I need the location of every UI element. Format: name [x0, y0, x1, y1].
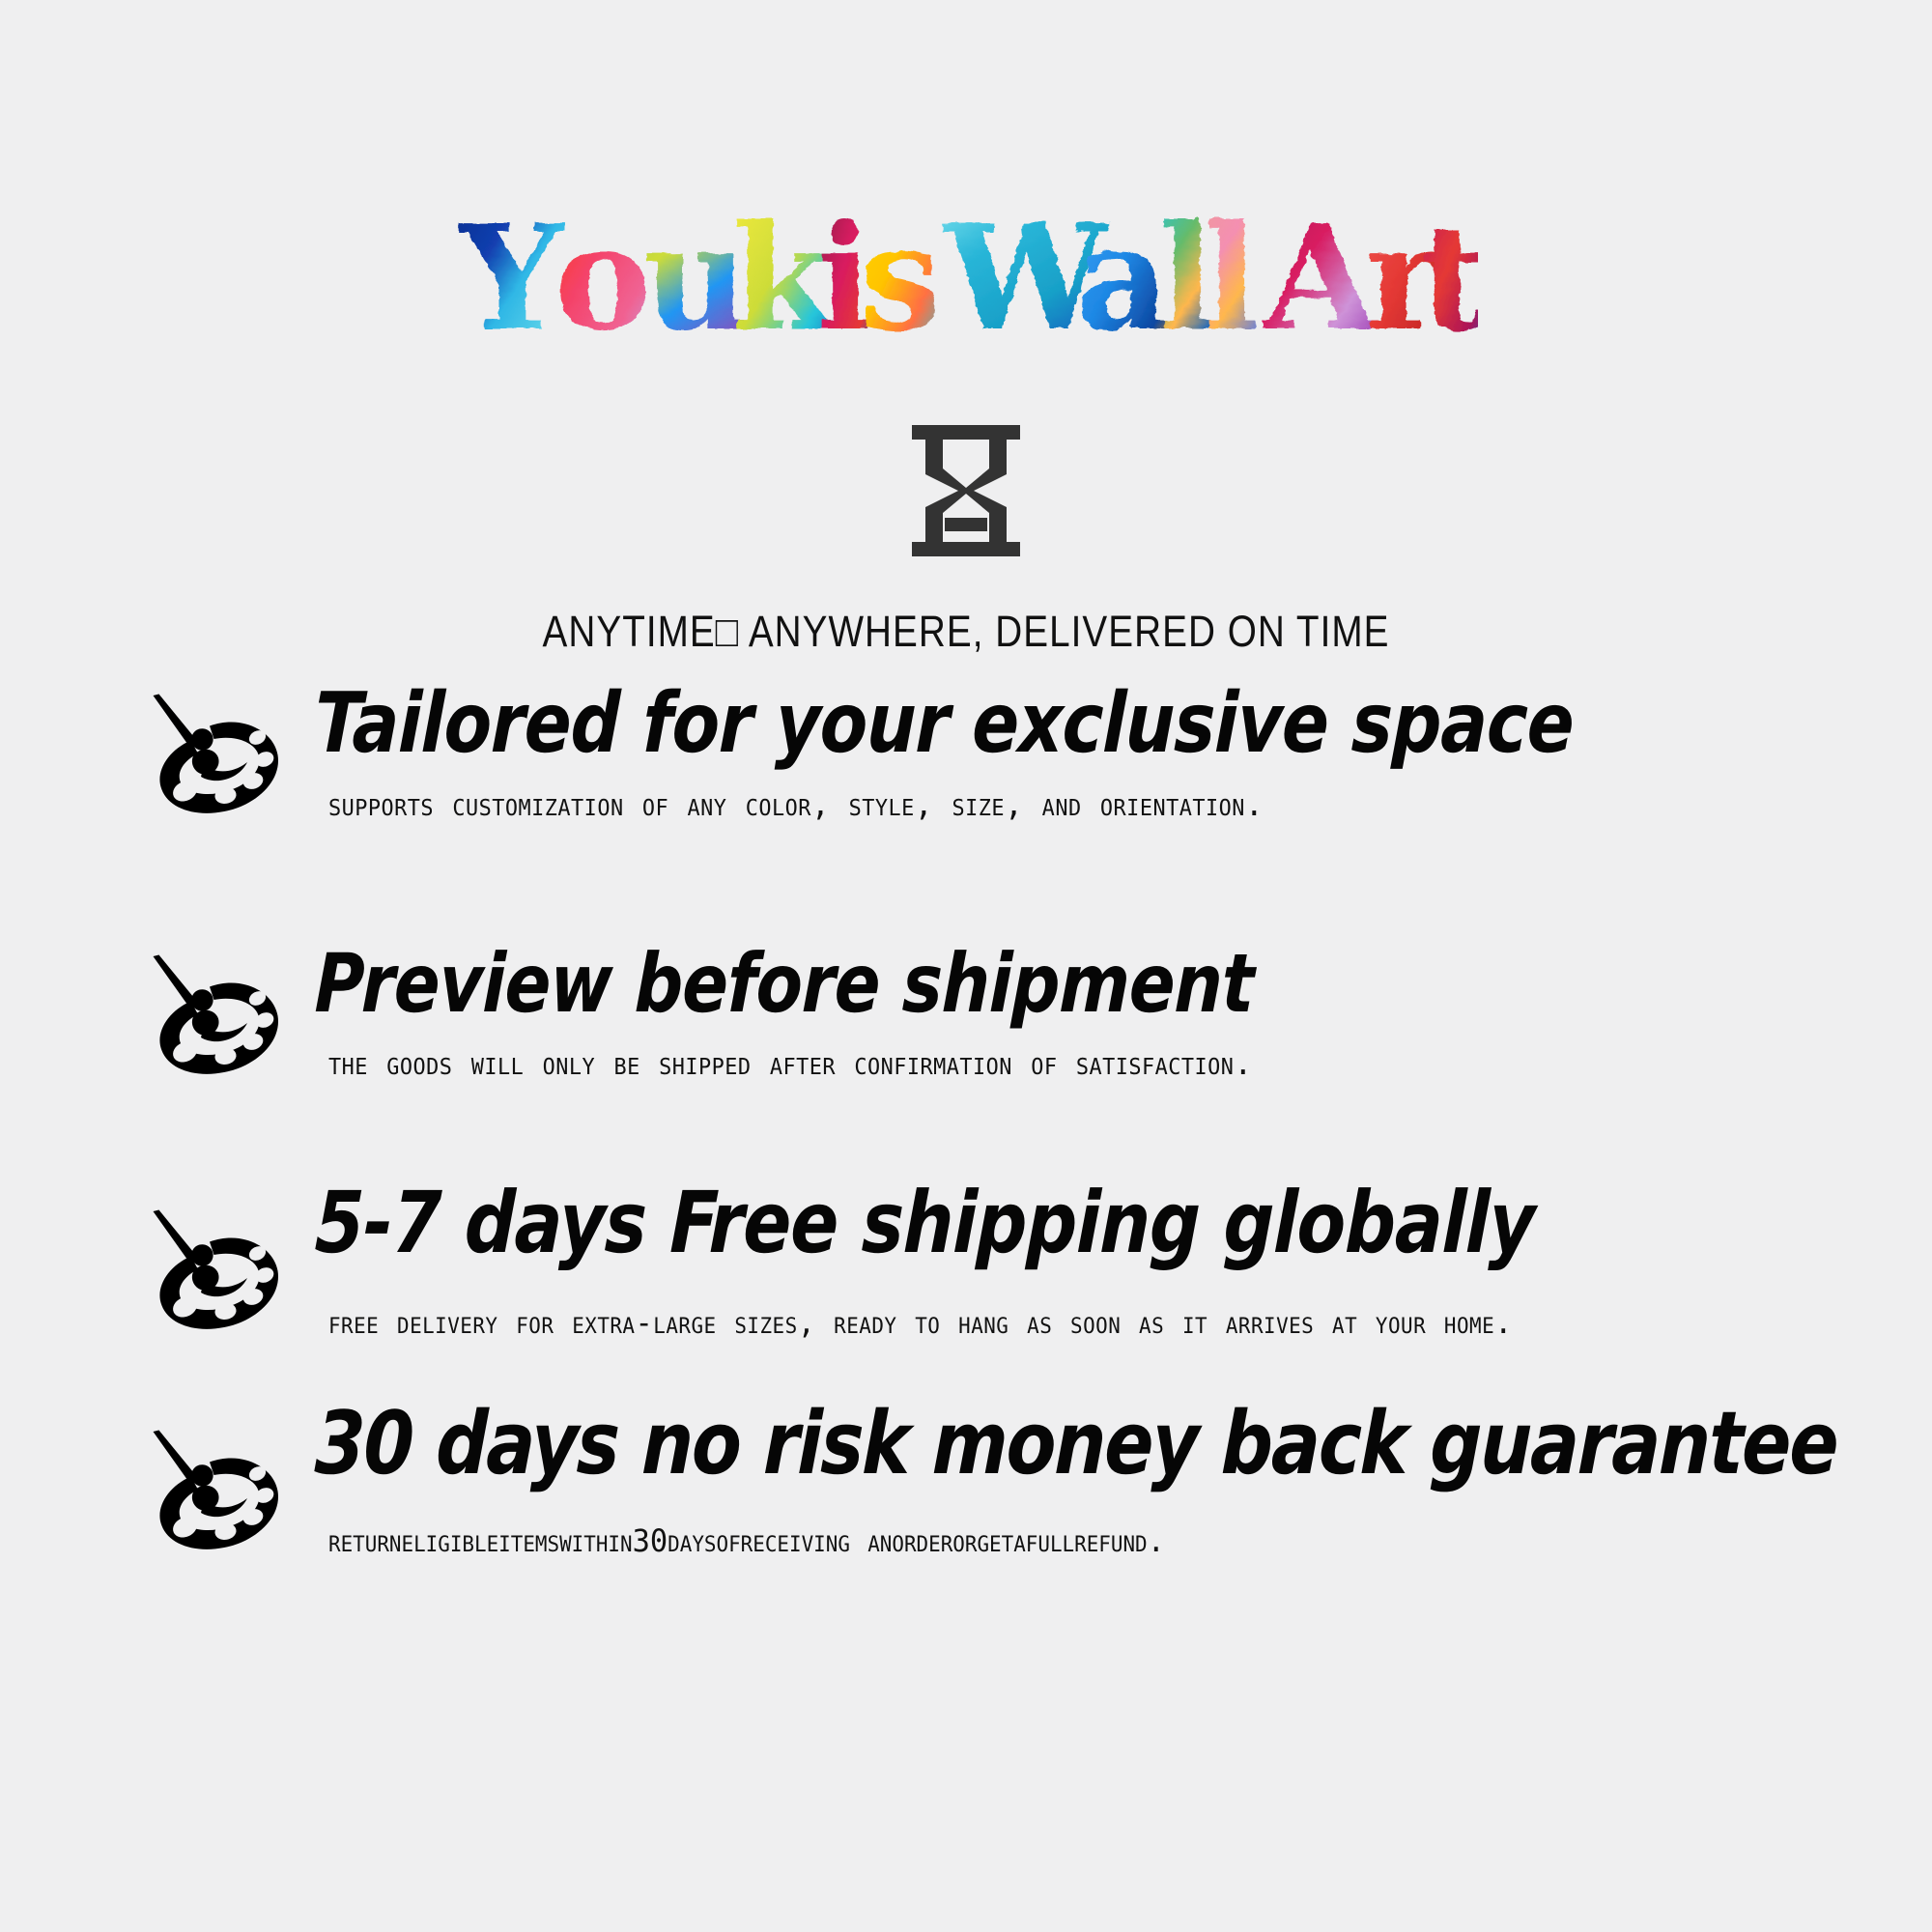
feature-text: Tailored for your exclusive space Suppor… — [288, 682, 1932, 830]
hourglass-icon — [910, 425, 1022, 556]
promo-banner: Y o u k i s W a l l A r t — [0, 0, 1932, 1932]
palette-brush-icon — [143, 690, 288, 835]
palette-brush-icon — [143, 1426, 288, 1571]
feature-row: Tailored for your exclusive space Suppor… — [0, 682, 1932, 835]
feature-row: Preview before shipment The goods will o… — [0, 943, 1932, 1095]
logo-letter-t: t — [1420, 193, 1478, 363]
feature-subtitle: Supports customization of any color, sty… — [328, 779, 1852, 830]
feature-title: Preview before shipment — [314, 943, 1820, 1024]
logo-letter-s: s — [860, 193, 941, 363]
feature-row: 5-7 days Free shipping globally Free del… — [0, 1180, 1932, 1350]
tagline: ANYTIME□ ANYWHERE, DELIVERED ON TIME — [135, 607, 1797, 657]
feature-title: 5-7 days Free shipping globally — [314, 1180, 1820, 1265]
brand-logo-artwork: Y o u k i s W a l l A r t — [454, 184, 1478, 367]
feature-text: 5-7 days Free shipping globally Free del… — [288, 1180, 1932, 1349]
logo-letter-A: A — [1262, 193, 1378, 363]
palette-brush-icon — [143, 1206, 288, 1350]
feature-title: 30 days no risk money back guarantee — [314, 1401, 1838, 1488]
feature-text: 30 days no risk money back guarantee Ret… — [288, 1401, 1932, 1567]
logo-letter-l2: l — [1204, 193, 1259, 363]
feature-row: 30 days no risk money back guarantee Ret… — [0, 1401, 1932, 1571]
logo-letter-Y: Y — [458, 193, 565, 363]
hourglass-icon-container — [0, 425, 1932, 561]
feature-title: Tailored for your exclusive space — [314, 682, 1820, 765]
logo-letter-o: o — [554, 193, 651, 363]
palette-brush-icon — [143, 951, 288, 1095]
feature-subtitle: Free delivery for extra-large sizes, rea… — [328, 1298, 1852, 1349]
brand-logo: Y o u k i s W a l l A r t — [0, 184, 1932, 372]
logo-letter-a: a — [1076, 193, 1170, 363]
feature-list: Tailored for your exclusive space Suppor… — [0, 682, 1932, 1571]
feature-subtitle: The goods will only be shipped after con… — [328, 1037, 1852, 1089]
feature-text: Preview before shipment The goods will o… — [288, 943, 1932, 1089]
feature-subtitle: Returneligibleitemswithin30daysofreceivi… — [328, 1517, 1870, 1567]
